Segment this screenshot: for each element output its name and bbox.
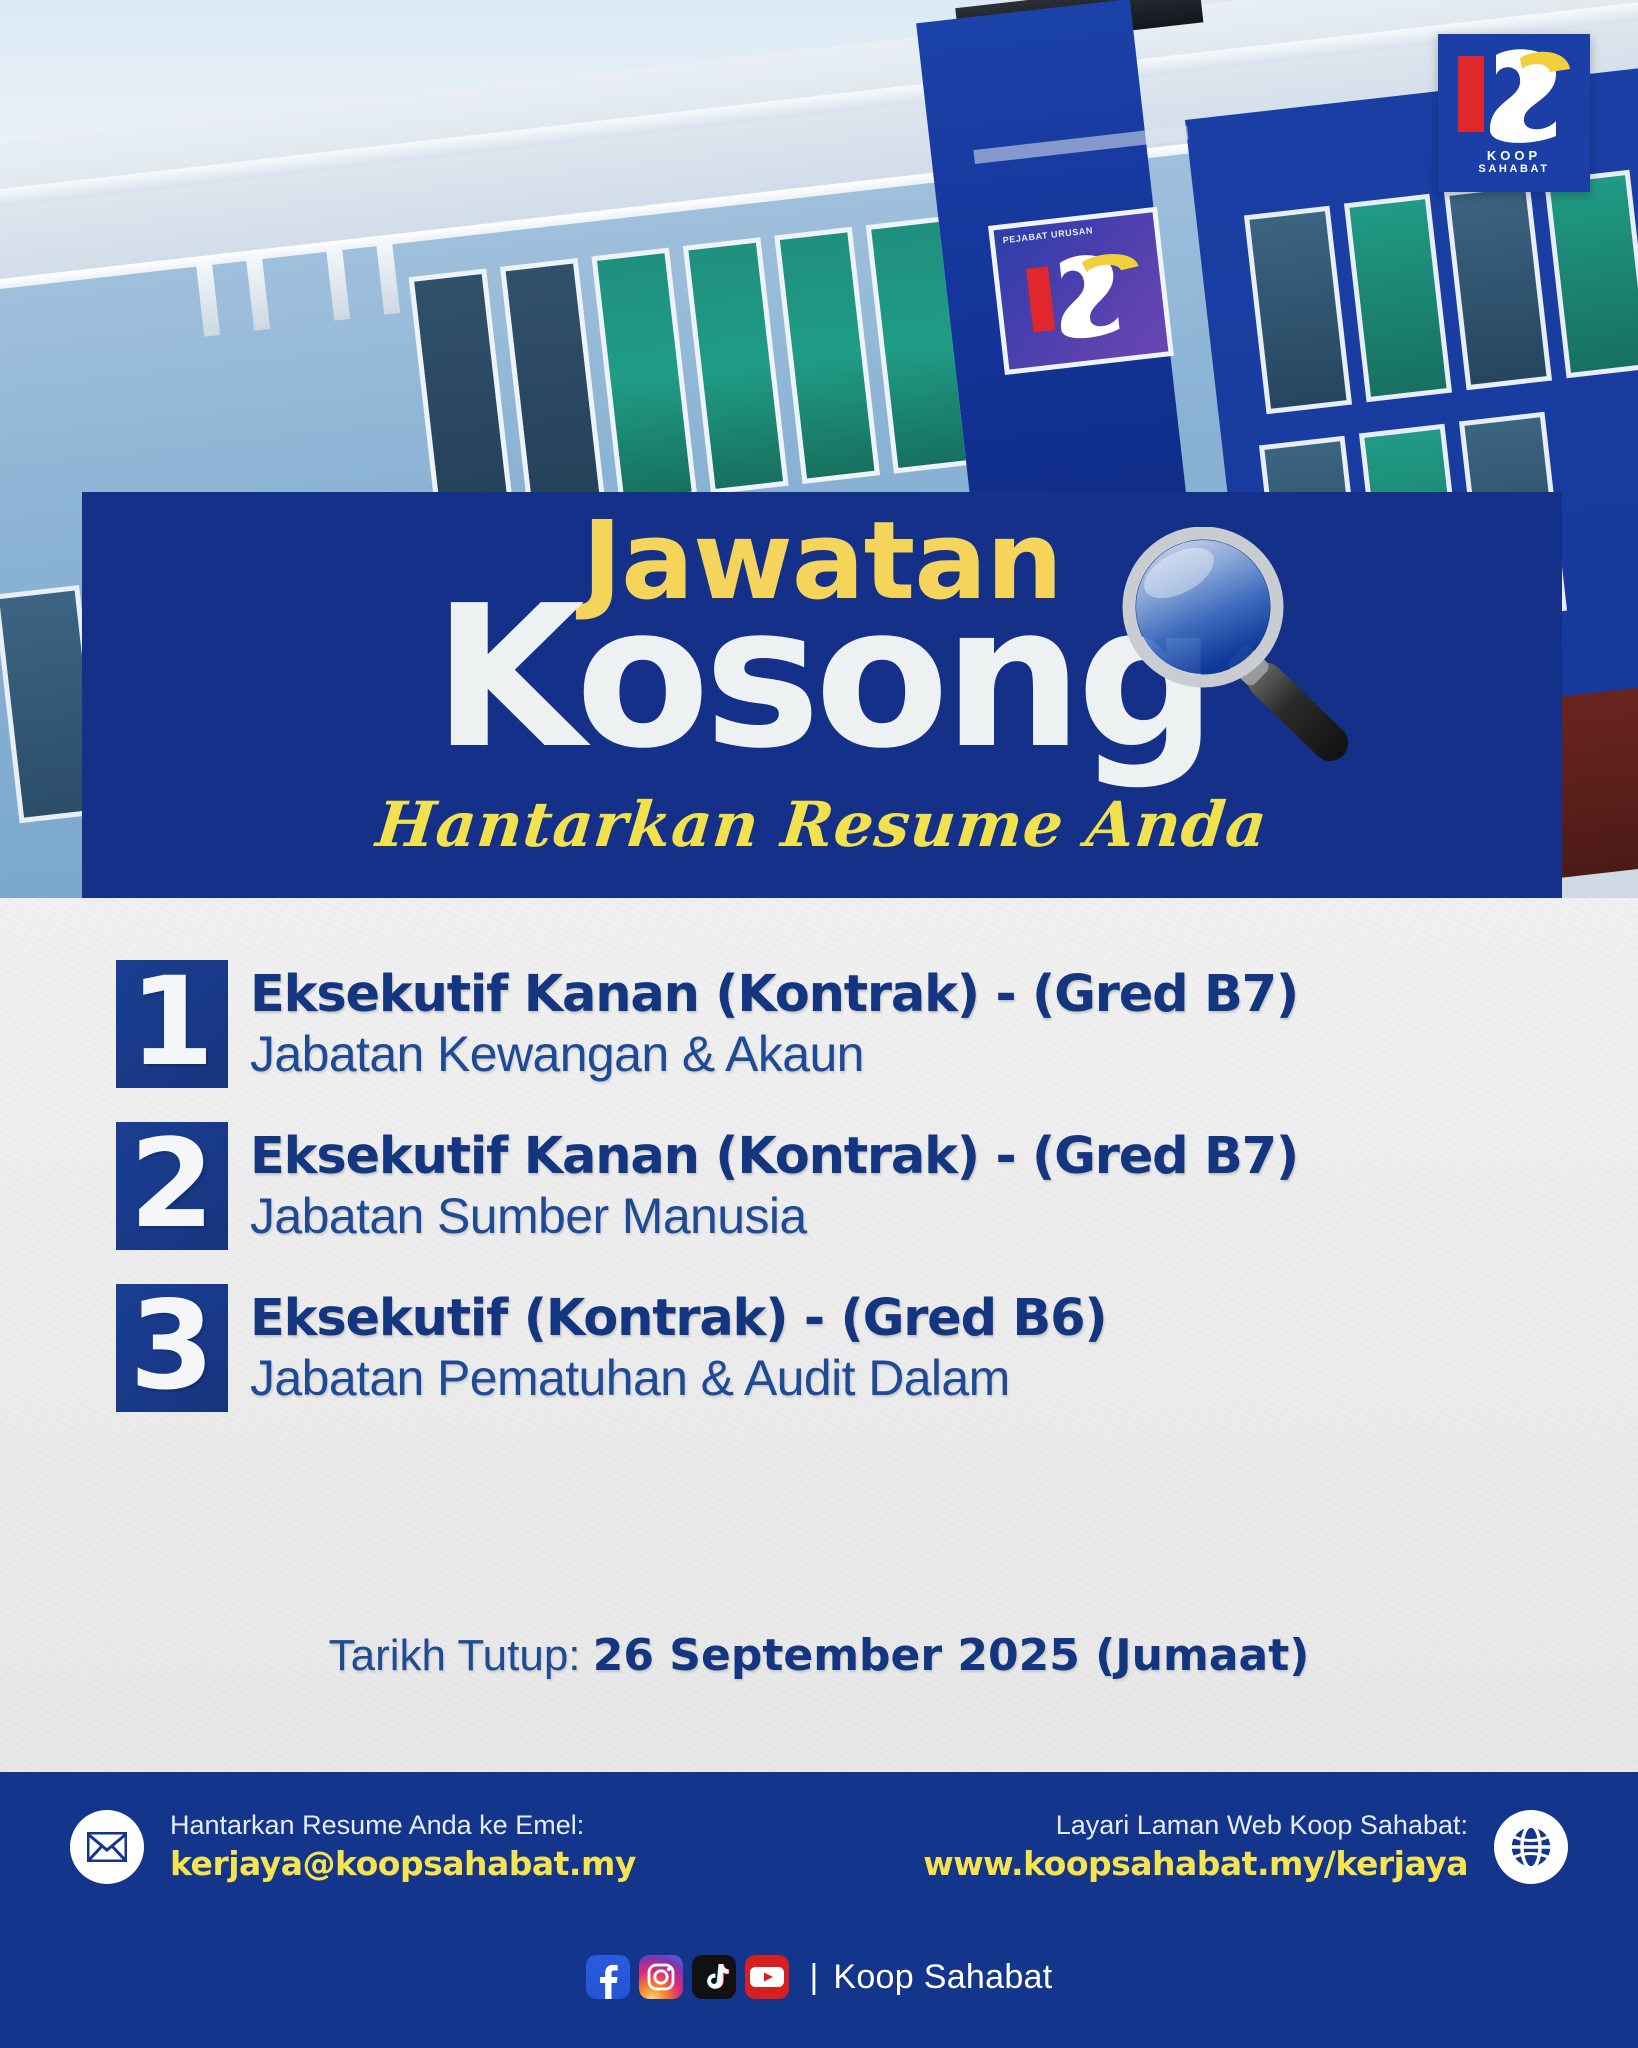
job-number-badge: 3 — [116, 1284, 228, 1412]
window-pane — [591, 248, 697, 505]
logo-line-2: SAHABAT — [1478, 163, 1549, 175]
globe-icon — [1494, 1810, 1568, 1884]
job-department: Jabatan Sumber Manusia — [250, 1187, 1298, 1246]
job-item: 3 Eksekutif (Kontrak) - (Gred B6) Jabata… — [0, 1284, 1638, 1412]
footer-email-text: Hantarkan Resume Anda ke Emel: kerjaya@k… — [144, 1808, 662, 1886]
job-department: Jabatan Pematuhan & Audit Dalam — [250, 1349, 1107, 1408]
closing-date-line: Tarikh Tutup: 26 September 2025 (Jumaat) — [0, 1630, 1638, 1681]
social-links-row: | Koop Sahabat — [0, 1955, 1638, 1999]
title-banner: Jawatan Kosong Hantarkan Resume Anda — [82, 492, 1562, 898]
footer-website-value[interactable]: www.koopsahabat.my/kerjaya — [923, 1843, 1468, 1886]
logo-line-1: KOOP — [1487, 148, 1541, 163]
social-separator: | — [810, 1958, 819, 1997]
facebook-icon[interactable] — [586, 1955, 630, 1999]
signboard-label: PEJABAT URUSAN — [1002, 225, 1093, 245]
banner-script-tagline: Hantarkan Resume Anda — [78, 788, 1566, 861]
footer-website-block[interactable]: Layari Laman Web Koop Sahabat: www.koops… — [819, 1808, 1638, 1886]
job-title: Eksekutif (Kontrak) - (Gred B6) — [250, 1290, 1107, 1347]
job-item: 1 Eksekutif Kanan (Kontrak) - (Gred B7) … — [0, 960, 1638, 1088]
youtube-icon[interactable] — [745, 1955, 789, 1999]
instagram-icon[interactable] — [639, 1955, 683, 1999]
envelope-icon — [70, 1810, 144, 1884]
job-list: 1 Eksekutif Kanan (Kontrak) - (Gred B7) … — [0, 960, 1638, 1446]
footer-brand-name: Koop Sahabat — [833, 1958, 1052, 1997]
job-text: Eksekutif Kanan (Kontrak) - (Gred B7) Ja… — [250, 1122, 1298, 1246]
ks-monogram-icon — [1454, 42, 1574, 146]
job-item: 2 Eksekutif Kanan (Kontrak) - (Gred B7) … — [0, 1122, 1638, 1250]
job-number-badge: 1 — [116, 960, 228, 1088]
tiktok-icon[interactable] — [692, 1955, 736, 1999]
job-number-badge: 2 — [116, 1122, 228, 1250]
footer-website-caption: Layari Laman Web Koop Sahabat: — [923, 1808, 1468, 1843]
window-pane — [409, 268, 515, 525]
koop-sahabat-logo: KOOP SAHABAT — [1438, 34, 1590, 192]
job-title: Eksekutif Kanan (Kontrak) - (Gred B7) — [250, 1128, 1298, 1185]
job-text: Eksekutif (Kontrak) - (Gred B6) Jabatan … — [250, 1284, 1107, 1408]
job-text: Eksekutif Kanan (Kontrak) - (Gred B7) Ja… — [250, 960, 1298, 1084]
footer-contact-columns: Hantarkan Resume Anda ke Emel: kerjaya@k… — [0, 1808, 1638, 1886]
footer-email-value[interactable]: kerjaya@koopsahabat.my — [170, 1843, 636, 1886]
job-department: Jabatan Kewangan & Akaun — [250, 1025, 1298, 1084]
window-pane — [500, 258, 606, 515]
globe-glyph — [1508, 1824, 1554, 1870]
footer-website-text: Layari Laman Web Koop Sahabat: www.koops… — [897, 1808, 1494, 1886]
office-signboard: PEJABAT URUSAN — [988, 207, 1174, 375]
footer-bar: Hantarkan Resume Anda ke Emel: kerjaya@k… — [0, 1772, 1638, 2048]
job-title: Eksekutif Kanan (Kontrak) - (Gred B7) — [250, 966, 1298, 1023]
envelope-glyph — [87, 1832, 127, 1862]
window-pane — [774, 227, 880, 484]
ks-monogram-icon — [1018, 239, 1158, 345]
footer-email-block[interactable]: Hantarkan Resume Anda ke Emel: kerjaya@k… — [0, 1808, 819, 1886]
closing-date-label: Tarikh Tutup: — [329, 1631, 593, 1680]
window-pane — [683, 237, 789, 494]
footer-email-caption: Hantarkan Resume Anda ke Emel: — [170, 1808, 636, 1843]
closing-date-value: 26 September 2025 (Jumaat) — [593, 1630, 1310, 1681]
magnifying-glass-icon — [1117, 527, 1417, 797]
